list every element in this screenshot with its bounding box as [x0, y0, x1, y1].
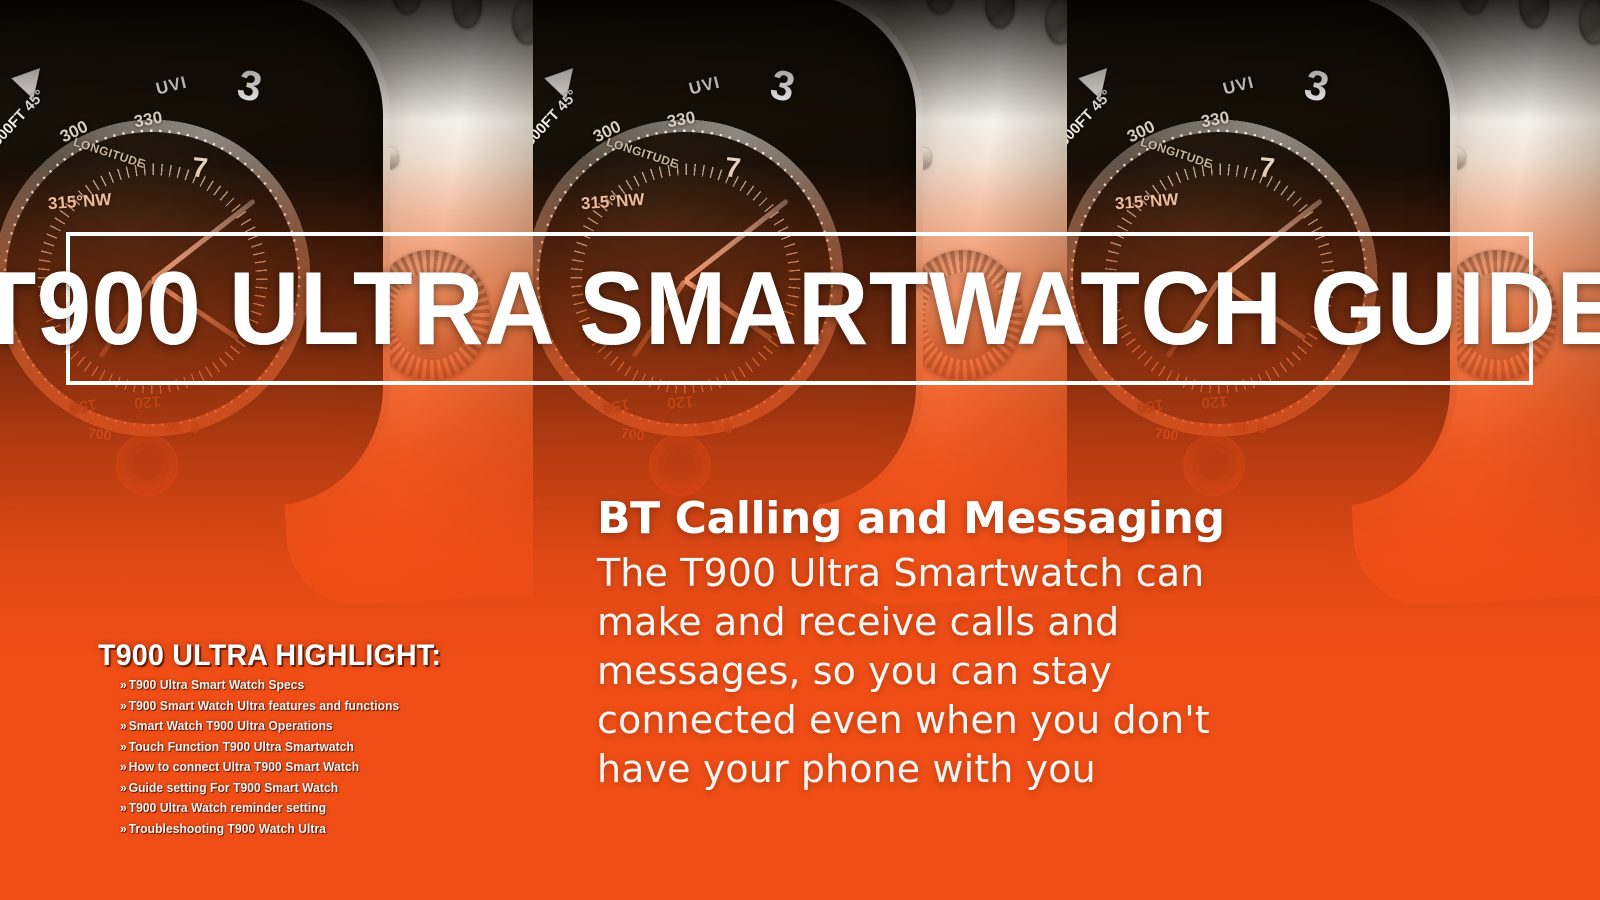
dial-tick-120: 120 [133, 391, 161, 411]
title-banner: T900 ULTRA SMARTWATCH GUIDE [66, 232, 1533, 385]
dial-hour-marker: 7 [190, 151, 209, 184]
highlight-list-item[interactable]: How to connect Ultra T900 Smart Watch [120, 761, 446, 774]
highlight-list-item[interactable]: T900 Smart Watch Ultra features and func… [120, 700, 446, 713]
section-heading: BT Calling and Messaging [597, 495, 1357, 543]
highlight-list-item[interactable]: Troubleshooting T900 Watch Ultra [120, 823, 446, 836]
dial-tick-150: 150 [602, 394, 631, 416]
highlight-list: T900 Ultra Smart Watch SpecsT900 Smart W… [120, 679, 459, 835]
dial-sub-small: 28 · 0 [166, 419, 200, 436]
poster-canvas: 1A 500FT 45° UVI 3 300 330 LONGITUDE 7 3… [0, 0, 1600, 900]
highlight-list-item[interactable]: T900 Ultra Smart Watch Specs [120, 679, 446, 692]
dial-hour-marker: 7 [724, 151, 743, 184]
dial-tick-120: 120 [667, 391, 695, 411]
dial-tick-150: 150 [1136, 394, 1165, 416]
dial-sub-small: 28 · 0 [699, 419, 733, 436]
dial-subdial [116, 434, 178, 496]
dial-subdial [1183, 434, 1245, 496]
highlight-list-item[interactable]: T900 Ultra Watch reminder setting [120, 802, 446, 815]
highlight-list-item[interactable]: Guide setting For T900 Smart Watch [120, 782, 446, 795]
dial-sub-700: 700 [620, 424, 645, 443]
highlight-list-item[interactable]: Touch Function T900 Ultra Smartwatch [120, 741, 446, 754]
dial-hour-marker: 7 [1257, 151, 1276, 184]
content-block: BT Calling and Messaging The T900 Ultra … [597, 495, 1357, 794]
dial-subdial [649, 434, 711, 496]
dial-sub-700: 700 [1154, 424, 1179, 443]
dial-sub-small: 28 · 0 [1232, 419, 1266, 436]
highlight-block: T900 ULTRA HIGHLIGHT: T900 Ultra Smart W… [98, 641, 459, 843]
dial-tick-150: 150 [69, 394, 98, 416]
section-body: The T900 Ultra Smartwatch can make and r… [597, 549, 1307, 794]
highlight-list-item[interactable]: Smart Watch T900 Ultra Operations [120, 720, 446, 733]
page-title: T900 ULTRA SMARTWATCH GUIDE [0, 257, 1600, 361]
dial-tick-120: 120 [1200, 391, 1228, 411]
watch-lug-icon [1045, 0, 1066, 44]
highlight-title: T900 ULTRA HIGHLIGHT: [98, 641, 441, 671]
dial-sub-700: 700 [87, 424, 112, 443]
